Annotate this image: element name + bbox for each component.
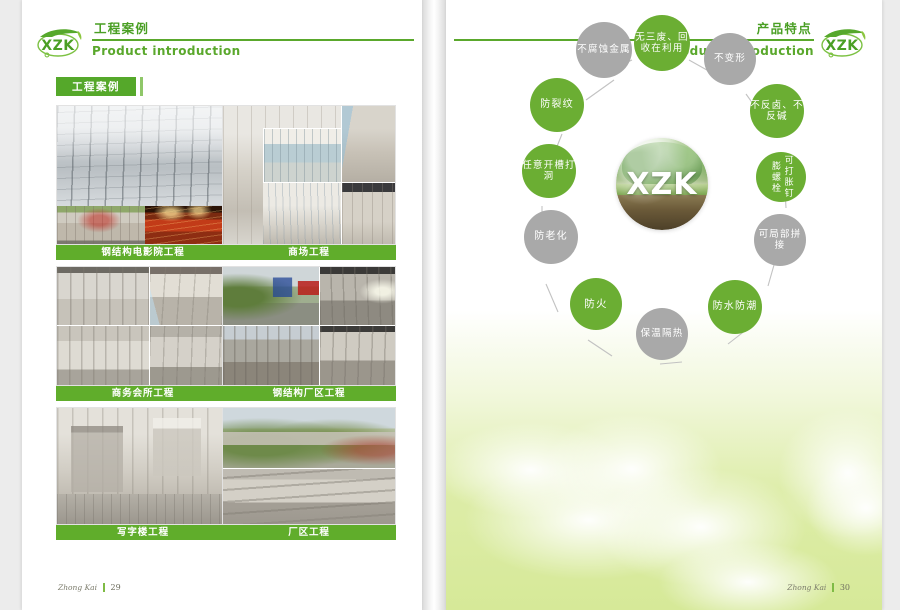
project-caption: 钢结构电影院工程: [56, 245, 230, 260]
xzk-logo-icon: XZK: [34, 24, 86, 64]
project-card[interactable]: 商场工程: [222, 105, 396, 260]
right-page: XZK 产品特点 Product introduction: [446, 0, 882, 610]
project-caption: 钢结构厂区工程: [222, 386, 396, 401]
page-number: 30: [840, 583, 850, 592]
section-tab-label[interactable]: 工程案例: [56, 77, 136, 96]
project-photo: [56, 266, 230, 386]
section-tab-marker: [140, 77, 143, 96]
left-page-header: XZK 工程案例 Product introduction: [34, 22, 414, 70]
left-page-footer: Zhong Kai 29: [58, 583, 121, 592]
feature-label: 防火: [584, 298, 607, 310]
project-photo: [222, 266, 396, 386]
project-card[interactable]: 写字楼工程: [56, 407, 230, 540]
feature-node-non-corrosive-to-metal[interactable]: 不腐蚀金属: [576, 22, 632, 78]
brochure-spread: XZK 工程案例 Product introduction 工程案例: [0, 0, 900, 610]
project-photo: [56, 105, 230, 245]
feature-label: 可局部拼接: [754, 229, 806, 251]
footer-brand: Zhong Kai: [787, 583, 826, 592]
feature-label: 防老化: [534, 231, 568, 243]
project-photo: [56, 407, 230, 525]
left-title-en: Product introduction: [92, 44, 414, 59]
project-card[interactable]: 钢结构厂区工程: [222, 266, 396, 401]
feature-node-partial-splicing[interactable]: 可局部拼接: [754, 214, 806, 266]
feature-node-no-halogen-alkali[interactable]: 不反卤、不反碱: [750, 84, 804, 138]
left-header-titles: 工程案例 Product introduction: [92, 22, 414, 59]
left-page: XZK 工程案例 Product introduction 工程案例: [22, 0, 422, 610]
product-features-diagram: 无三废、回收在利用 不变形 不反卤、不反碱 可打胀钉膨螺栓 可局部拼接 防水防潮…: [446, 0, 882, 470]
feature-node-free-grooving-drilling[interactable]: 任意开槽打洞: [522, 144, 576, 198]
hub-brand-label: XZK: [616, 138, 708, 230]
feature-node-no-three-wastes[interactable]: 无三废、回收在利用: [634, 15, 690, 71]
footer-brand: Zhong Kai: [58, 583, 97, 592]
project-caption: 写字楼工程: [56, 525, 230, 540]
feature-label: 无三废、回收在利用: [634, 32, 690, 54]
center-hub-sphere: XZK: [616, 138, 708, 230]
feature-label: 不腐蚀金属: [577, 44, 631, 55]
footer-divider: [103, 583, 105, 592]
project-card[interactable]: 商务会所工程: [56, 266, 230, 401]
project-card[interactable]: 钢结构电影院工程: [56, 105, 230, 260]
feature-node-no-deformation[interactable]: 不变形: [704, 33, 756, 85]
project-photo: [222, 407, 396, 525]
project-card[interactable]: 厂区工程: [222, 407, 396, 540]
footer-divider: [832, 583, 834, 592]
svg-text:XZK: XZK: [41, 38, 75, 54]
feature-label: 不反卤、不反碱: [750, 100, 804, 122]
feature-label: 保温隔热: [641, 328, 684, 339]
feature-node-crack-resistant[interactable]: 防裂纹: [530, 78, 584, 132]
feature-label: 任意开槽打洞: [522, 160, 576, 182]
feature-label: 可打胀钉膨螺栓: [768, 152, 793, 202]
project-caption: 厂区工程: [222, 525, 396, 540]
feature-node-thermal-insulation[interactable]: 保温隔热: [636, 308, 688, 360]
left-title-rule: [92, 39, 414, 41]
right-page-footer: Zhong Kai 30: [787, 583, 850, 592]
project-caption: 商场工程: [222, 245, 396, 260]
left-title-cn: 工程案例: [92, 22, 414, 38]
feature-node-waterproof-moistureproof[interactable]: 防水防潮: [708, 280, 762, 334]
feature-node-fireproof[interactable]: 防火: [570, 278, 622, 330]
cloud-shape: [658, 542, 838, 610]
feature-label: 防裂纹: [540, 99, 574, 111]
project-caption: 商务会所工程: [56, 386, 230, 401]
feature-node-nail-expansion-bolt[interactable]: 可打胀钉膨螺栓: [756, 152, 806, 202]
page-number: 29: [111, 583, 121, 592]
feature-label: 防水防潮: [713, 301, 758, 313]
feature-label: 不变形: [714, 53, 746, 64]
section-tab[interactable]: 工程案例: [56, 77, 143, 96]
page-gutter: [422, 0, 446, 610]
project-photo: [222, 105, 396, 245]
project-photo-grid: 钢结构电影院工程: [56, 105, 396, 546]
feature-node-anti-aging[interactable]: 防老化: [524, 210, 578, 264]
